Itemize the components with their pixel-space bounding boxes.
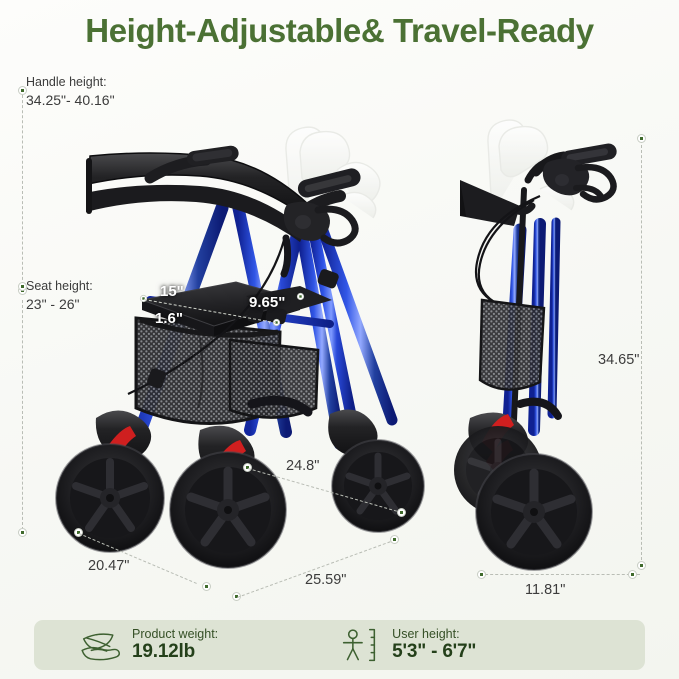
- seat-depth-value: 9.65": [249, 294, 285, 311]
- handle-height-guide: [22, 90, 23, 290]
- handle-height-caption: Handle height:: [26, 75, 107, 89]
- diagonal-value: 24.8": [286, 458, 319, 474]
- spec-user-height-value: 5'3" - 6'7": [392, 641, 476, 663]
- seat-thickness-value: 1.6": [155, 310, 183, 327]
- spec-user-height-text: User height: 5'3" - 6'7": [392, 627, 476, 663]
- length-node-right: [390, 535, 399, 544]
- seat-height-label: Seat height: 23" - 26": [26, 278, 93, 314]
- seat-height-caption: Seat height:: [26, 279, 93, 293]
- seat-height-value: 23" - 26": [26, 295, 93, 314]
- person-height-icon: [336, 626, 382, 664]
- handle-height-label: Handle height: 34.25"- 40.16": [26, 74, 115, 110]
- seat-height-guide: [22, 300, 23, 530]
- spec-user-height: User height: 5'3" - 6'7": [336, 626, 476, 664]
- width-node-right: [202, 582, 211, 591]
- spec-product-weight-label: Product weight:: [132, 627, 218, 641]
- seat-node-c: [297, 293, 304, 300]
- diagonal-node-bottom: [397, 508, 406, 517]
- infographic-canvas: Height-Adjustable& Travel-Ready: [0, 0, 679, 679]
- page-title: Height-Adjustable& Travel-Ready: [0, 12, 679, 50]
- overall-length-value: 25.59": [305, 572, 346, 588]
- handle-height-value: 34.25"- 40.16": [26, 91, 115, 110]
- folded-width-node-right: [628, 570, 637, 579]
- spec-bar: Product weight: 19.12lb User: [34, 620, 645, 670]
- leaf-in-hand-icon: [76, 626, 122, 664]
- spec-user-height-label: User height:: [392, 627, 476, 641]
- seat-width-value: 15": [160, 283, 184, 300]
- folded-width-guide: [480, 574, 640, 575]
- folded-height-node-bottom: [637, 561, 646, 570]
- diagonal-guide: [248, 468, 397, 512]
- spec-product-weight-value: 19.12lb: [132, 641, 218, 663]
- folded-height-guide: [641, 140, 642, 565]
- folded-height-node-top: [637, 134, 646, 143]
- seat-height-node-bottom: [18, 528, 27, 537]
- folded-width-value: 11.81": [525, 582, 565, 598]
- folded-width-node-left: [477, 570, 486, 579]
- wheelbase-width-value: 20.47": [88, 558, 129, 574]
- spec-product-weight-text: Product weight: 19.12lb: [132, 627, 218, 663]
- spec-product-weight: Product weight: 19.12lb: [76, 626, 218, 664]
- length-guide: [237, 541, 391, 598]
- folded-height-value: 34.65": [598, 352, 639, 368]
